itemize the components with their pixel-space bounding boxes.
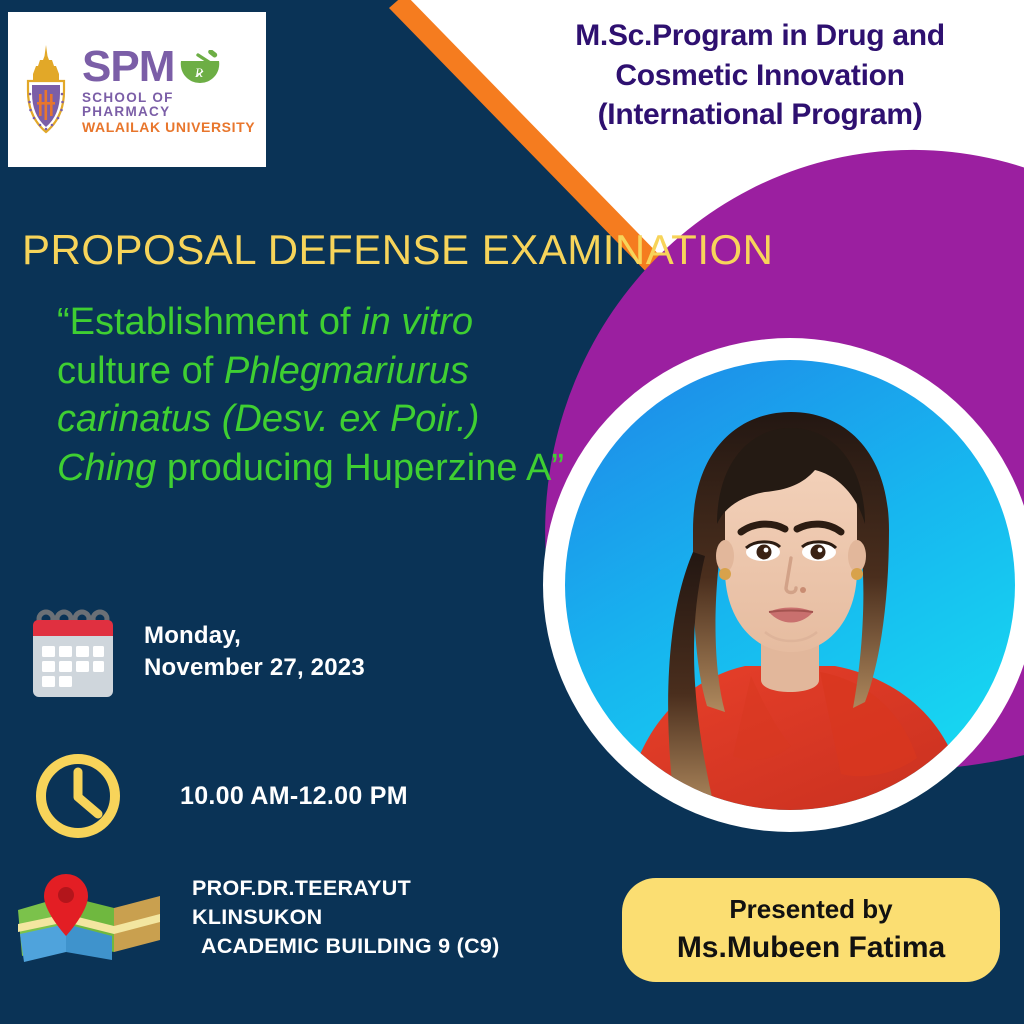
map-pin-icon — [10, 868, 170, 974]
walailak-crest-icon — [16, 42, 76, 138]
location-line-3: ACADEMIC BUILDING 9 (C9) — [192, 932, 500, 961]
thesis-title: “Establishment of in vitro culture of Ph… — [57, 298, 577, 493]
portrait-illustration — [565, 360, 1015, 810]
location-line-2: KLINSUKON — [192, 903, 500, 932]
presenter-name: Ms.Mubeen Fatima — [677, 930, 945, 966]
logo-university-line: WALAILAK UNIVERSITY — [82, 120, 258, 134]
thesis-seg-4: producing Huperzine A” — [156, 447, 564, 489]
location-row: PROF.DR.TEERAYUT KLINSUKON ACADEMIC BUIL… — [10, 868, 500, 974]
clock-icon — [30, 748, 126, 844]
calendar-icon — [30, 608, 116, 704]
program-header-line-3: (International Program) — [500, 95, 1020, 135]
location-line-1: PROF.DR.TEERAYUT — [192, 874, 500, 903]
logo-acronym: SPM — [82, 45, 174, 89]
thesis-seg-1: in vitro — [361, 301, 473, 343]
date-line-1: Monday, — [144, 620, 365, 652]
page-title: PROPOSAL DEFENSE EXAMINATION — [22, 226, 773, 274]
presented-by-badge: Presented by Ms.Mubeen Fatima — [622, 878, 1000, 982]
presented-by-label: Presented by — [729, 894, 892, 925]
time-row: 10.00 AM-12.00 PM — [30, 748, 408, 844]
program-header: M.Sc.Program in Drug and Cosmetic Innova… — [500, 16, 1020, 135]
logo-school-line: SCHOOL OF PHARMACY — [82, 91, 258, 118]
program-header-line-2: Cosmetic Innovation — [500, 56, 1020, 96]
date-line-2: November 27, 2023 — [144, 652, 365, 684]
mortar-pestle-icon: R — [178, 50, 222, 84]
thesis-seg-2: culture of — [57, 350, 224, 392]
program-header-line-1: M.Sc.Program in Drug and — [500, 16, 1020, 56]
poster-canvas: SPM R SCHOOL OF PHARMACY WALAILAK UNIVER… — [0, 0, 1024, 1024]
date-row: Monday, November 27, 2023 — [30, 608, 365, 704]
presenter-photo-frame — [543, 338, 1024, 832]
thesis-seg-0: “Establishment of — [57, 301, 361, 343]
avatar — [565, 360, 1015, 810]
university-logo: SPM R SCHOOL OF PHARMACY WALAILAK UNIVER… — [8, 12, 266, 167]
time-value: 10.00 AM-12.00 PM — [180, 782, 408, 811]
